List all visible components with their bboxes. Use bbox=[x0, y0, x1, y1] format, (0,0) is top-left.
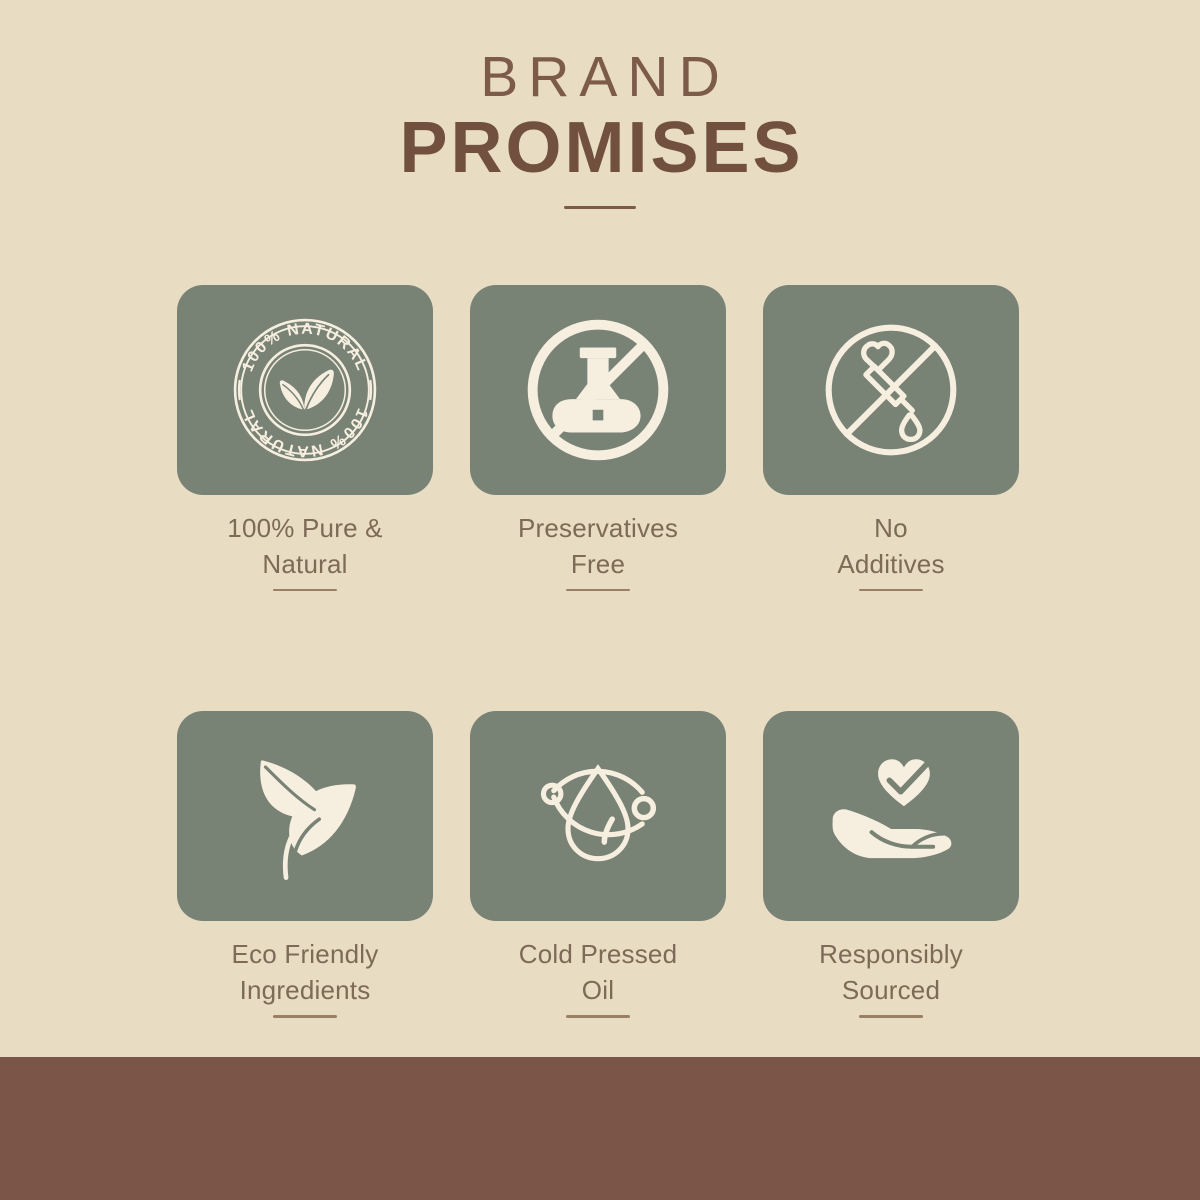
promise-caption-line1: Preservatives bbox=[470, 511, 726, 547]
promise-item-responsibly-sourced: Responsibly Sourced bbox=[763, 711, 1019, 1017]
promise-caption-line2: Oil bbox=[470, 973, 726, 1009]
promise-icon-card bbox=[470, 711, 726, 921]
promise-caption: Preservatives Free bbox=[470, 511, 726, 583]
title-divider bbox=[564, 206, 636, 209]
no-preservatives-flask-icon bbox=[522, 314, 674, 466]
promise-caption-line1: Eco Friendly bbox=[177, 937, 433, 973]
promise-caption-line1: No bbox=[763, 511, 1019, 547]
promise-icon-card bbox=[470, 285, 726, 495]
promise-caption-line1: Cold Pressed bbox=[470, 937, 726, 973]
promise-caption-line2: Sourced bbox=[763, 973, 1019, 1009]
promise-icon-card bbox=[763, 285, 1019, 495]
promise-caption-line2: Natural bbox=[177, 547, 433, 583]
cold-pressed-oil-drop-icon bbox=[519, 737, 677, 895]
footer-bar bbox=[0, 1057, 1200, 1200]
page-title-primary: BRAND bbox=[0, 48, 1200, 108]
svg-text:100% NATURAL: 100% NATURAL bbox=[239, 321, 370, 375]
promise-icon-card bbox=[177, 711, 433, 921]
promise-item-cold-pressed-oil: Cold Pressed Oil bbox=[470, 711, 726, 1017]
natural-badge-icon: 100% NATURAL 100% NATURAL bbox=[229, 314, 381, 466]
caption-divider bbox=[273, 1015, 337, 1018]
hand-heart-check-icon bbox=[810, 735, 972, 897]
no-additives-dropper-icon bbox=[815, 314, 967, 466]
promise-caption-line2: Ingredients bbox=[177, 973, 433, 1009]
promise-caption: Responsibly Sourced bbox=[763, 937, 1019, 1009]
brand-promises-poster: BRAND PROMISES bbox=[0, 0, 1200, 1200]
promise-caption: No Additives bbox=[763, 511, 1019, 583]
caption-divider bbox=[859, 1015, 923, 1018]
promise-caption-line1: 100% Pure & bbox=[177, 511, 433, 547]
promise-caption: 100% Pure & Natural bbox=[177, 511, 433, 583]
promise-item-eco-friendly: Eco Friendly Ingredients bbox=[177, 711, 433, 1017]
eco-leaves-icon bbox=[226, 737, 384, 895]
promise-caption-line2: Additives bbox=[763, 547, 1019, 583]
promise-icon-card bbox=[763, 711, 1019, 921]
promise-caption-line2: Free bbox=[470, 547, 726, 583]
promise-caption: Eco Friendly Ingredients bbox=[177, 937, 433, 1009]
promise-icon-card: 100% NATURAL 100% NATURAL bbox=[177, 285, 433, 495]
promise-item-natural: 100% NATURAL 100% NATURAL 100% Pure & bbox=[177, 285, 433, 591]
caption-divider bbox=[566, 589, 630, 592]
caption-divider bbox=[273, 589, 337, 592]
promise-item-preservatives-free: Preservatives Free bbox=[470, 285, 726, 591]
caption-divider bbox=[566, 1015, 630, 1018]
svg-text:100% NATURAL: 100% NATURAL bbox=[239, 406, 370, 460]
promises-grid: 100% NATURAL 100% NATURAL 100% Pure & bbox=[177, 285, 1023, 1018]
promise-caption-line1: Responsibly bbox=[763, 937, 1019, 973]
page-title-secondary: PROMISES bbox=[0, 108, 1200, 189]
poster-header: BRAND PROMISES bbox=[0, 48, 1200, 209]
promise-item-no-additives: No Additives bbox=[763, 285, 1019, 591]
promise-caption: Cold Pressed Oil bbox=[470, 937, 726, 1009]
caption-divider bbox=[859, 589, 923, 592]
